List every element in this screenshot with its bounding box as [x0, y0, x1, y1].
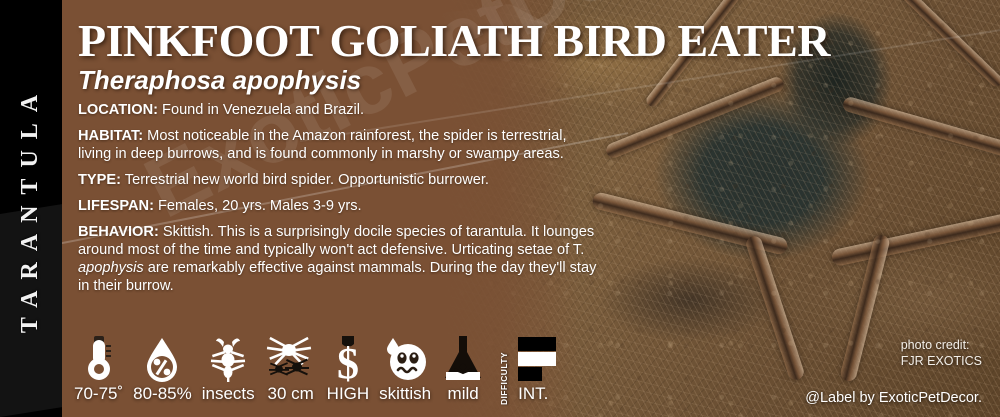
fact-habitat: HABITAT: Most noticeable in the Amazon r…	[78, 128, 598, 164]
fact-location: LOCATION: Found in Venezuela and Brazil.	[78, 102, 598, 120]
fact-text: Females, 20 yrs. Males 3-9 yrs.	[154, 198, 362, 214]
species-label-card: ExoticPetDecor TARANTULA PINKFOOT GOLIAT…	[0, 0, 1000, 417]
fact-text: Found in Venezuela and Brazil.	[158, 102, 364, 118]
care-icon-difficulty: DIFFICULTY INT.	[499, 336, 556, 402]
care-icon-temperature: 70-75˚	[74, 336, 123, 402]
page-title: PINKFOOT GOLIATH BIRD EATER	[78, 18, 598, 64]
venom-flask-icon	[441, 336, 485, 382]
photo-credit-name: FJR EXOTICS	[901, 353, 982, 369]
facts-list: LOCATION: Found in Venezuela and Brazil.…	[78, 102, 598, 295]
difficulty-bar-middle	[518, 352, 556, 366]
care-icon-caption: mild	[448, 385, 479, 402]
difficulty-value: INT.	[510, 385, 548, 402]
fact-text: Most noticeable in the Amazon rainforest…	[78, 128, 567, 162]
difficulty-meter: INT.	[510, 336, 556, 402]
sidebar-category-label: TARANTULA	[18, 84, 45, 333]
sidebar-category-strip: TARANTULA	[0, 0, 62, 417]
difficulty-vertical-label: DIFFICULTY	[499, 356, 509, 402]
sidebar-vertical-text: TARANTULA	[0, 0, 62, 417]
care-icon-caption: skittish	[379, 385, 431, 402]
fact-label: BEHAVIOR:	[78, 224, 159, 240]
photo-credit: photo credit: FJR EXOTICS	[901, 337, 982, 369]
svg-text:$: $	[337, 339, 359, 382]
difficulty-bar-top	[518, 337, 556, 351]
care-icon-row: 70-75˚ 80-85%	[74, 336, 556, 402]
nervous-face-icon	[383, 336, 427, 382]
insect-icon	[208, 336, 248, 382]
care-icon-price: $ HIGH	[327, 336, 370, 402]
fact-behavior: BEHAVIOR: Skittish. This is a surprising…	[78, 224, 598, 296]
care-icon-caption: insects	[202, 385, 255, 402]
care-icon-diet: insects	[202, 336, 255, 402]
humidity-drop-icon	[144, 336, 180, 382]
brand-credit: @Label by ExoticPetDecor.	[805, 391, 982, 406]
difficulty-bars-icon	[510, 336, 556, 382]
scientific-epithet: apophysis	[78, 260, 144, 276]
dollar-sign-icon: $	[333, 336, 363, 382]
care-icon-venom: mild	[441, 336, 485, 402]
photo-credit-label: photo credit:	[901, 337, 982, 353]
fact-text: Terrestrial new world bird spider. Oppor…	[121, 172, 489, 188]
fact-label: LIFESPAN:	[78, 198, 154, 214]
spider-size-icon	[265, 336, 317, 382]
thermometer-icon	[82, 336, 116, 382]
difficulty-bar-bottom	[518, 367, 542, 381]
fact-type: TYPE: Terrestrial new world bird spider.…	[78, 172, 598, 190]
fact-label: HABITAT:	[78, 128, 143, 144]
care-icon-humidity: 80-85%	[133, 336, 192, 402]
care-icon-caption: 80-85%	[133, 385, 192, 402]
scientific-name: Theraphosa apophysis	[78, 67, 598, 94]
care-icon-caption: HIGH	[327, 385, 370, 402]
fact-label: LOCATION:	[78, 102, 158, 118]
fact-lifespan: LIFESPAN: Females, 20 yrs. Males 3-9 yrs…	[78, 198, 598, 216]
care-icon-caption: 70-75˚	[74, 385, 123, 402]
care-icon-caption: 30 cm	[268, 385, 314, 402]
fact-label: TYPE:	[78, 172, 121, 188]
care-icon-temperament: skittish	[379, 336, 431, 402]
label-content: PINKFOOT GOLIATH BIRD EATER Theraphosa a…	[78, 0, 598, 304]
care-icon-size: 30 cm	[265, 336, 317, 402]
